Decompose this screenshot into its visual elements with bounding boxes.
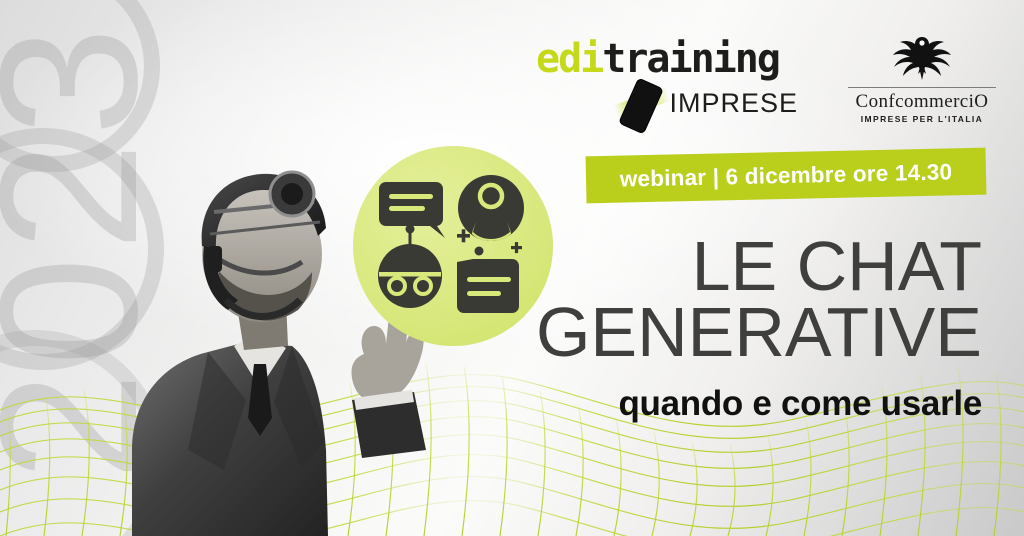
webinar-date-badge: webinar | 6 dicembre ore 14.30 — [586, 148, 987, 204]
headline-block: LE CHAT GENERATIVE quando e come usarle — [422, 234, 982, 424]
smartphone-icon — [619, 79, 662, 133]
confcommercio-tagline: IMPRESE PER L'ITALIA — [848, 114, 996, 124]
confcommercio-logo: ConfcommerciO IMPRESE PER L'ITALIA — [848, 34, 996, 126]
editraining-imprese-text: IMPRESE — [669, 88, 798, 119]
user-avatar-icon — [458, 175, 524, 241]
headline-line-2: GENERATIVE — [422, 300, 982, 366]
editraining-wordmark: editraining — [536, 40, 798, 78]
subtitle-text: quando e come usarle — [422, 384, 982, 424]
editraining-logo: editraining IMPRESE — [536, 40, 798, 132]
confcommercio-divider — [848, 87, 996, 88]
confcommercio-name: ConfcommerciO — [848, 92, 996, 111]
editraining-training-text: training — [602, 40, 779, 78]
webinar-banner-root: 2023 — [0, 0, 1024, 536]
headline-line-1: LE CHAT — [422, 234, 982, 300]
editraining-edi-text: edi — [536, 40, 602, 78]
webinar-date-text: webinar | 6 dicembre ore 14.30 — [620, 159, 953, 192]
year-watermark: 2023 — [0, 51, 167, 481]
eagle-emblem-icon — [891, 34, 953, 84]
